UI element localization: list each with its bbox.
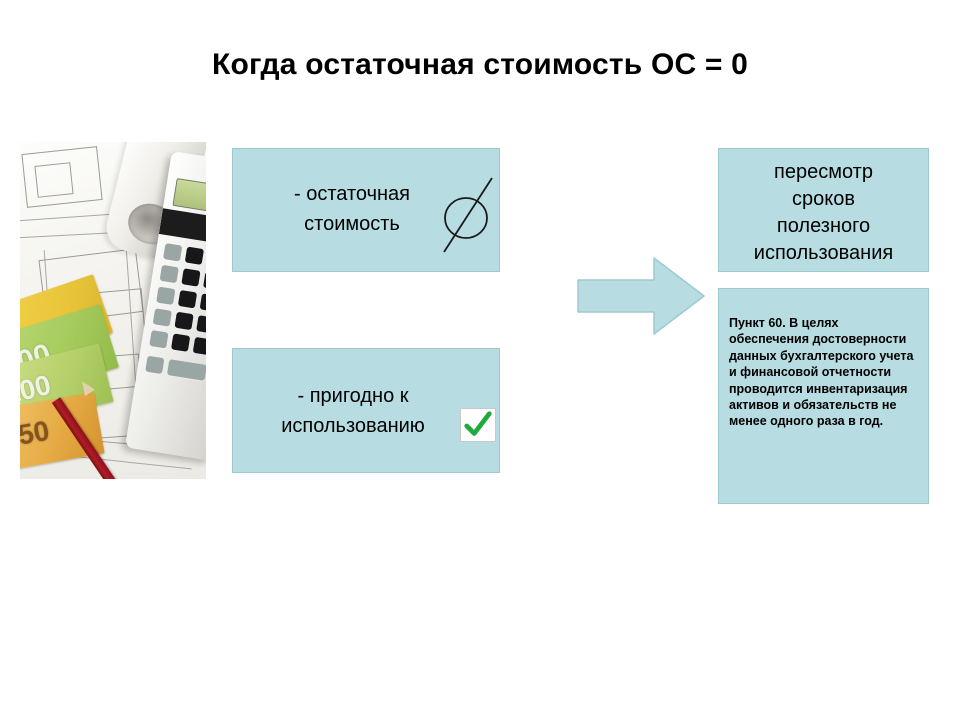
calculator-key-equals: [167, 359, 206, 381]
calculator-key: [156, 287, 175, 305]
calculator-key: [196, 315, 206, 333]
calculator-key: [171, 333, 190, 351]
calculator-key: [149, 330, 168, 348]
clause-60-box: Пункт 60. В целях обеспечения достоверно…: [718, 288, 929, 504]
slide-canvas: Когда остаточная стоимость ОС = 0 100 10…: [0, 0, 960, 720]
calculator-key: [200, 293, 206, 311]
illustration-photo: 100 100 50: [20, 142, 206, 479]
blueprint-rect: [34, 162, 73, 198]
calculator-key: [181, 268, 200, 286]
useful-life-review-label: пересмотр сроков полезного использования: [719, 159, 928, 267]
green-check-icon: [460, 408, 496, 442]
flow-arrow: [576, 256, 706, 336]
banknote-value: 50: [20, 415, 52, 452]
calculator-key: [153, 308, 172, 326]
calculator-key: [145, 356, 164, 374]
clause-60-text: Пункт 60. В целях обеспечения достоверно…: [729, 315, 921, 430]
calculator-key: [174, 312, 193, 330]
useful-life-review-box: пересмотр сроков полезного использования: [718, 148, 929, 272]
calculator-key: [193, 337, 206, 355]
page-title: Когда остаточная стоимость ОС = 0: [80, 48, 880, 82]
calculator-key: [160, 265, 179, 283]
calculator-key: [163, 243, 182, 261]
calculator-key: [203, 272, 206, 290]
crossed-zero-icon: [438, 172, 500, 258]
calculator-key: [178, 290, 197, 308]
calculator-key: [185, 247, 204, 265]
calculator-band: [159, 208, 206, 247]
